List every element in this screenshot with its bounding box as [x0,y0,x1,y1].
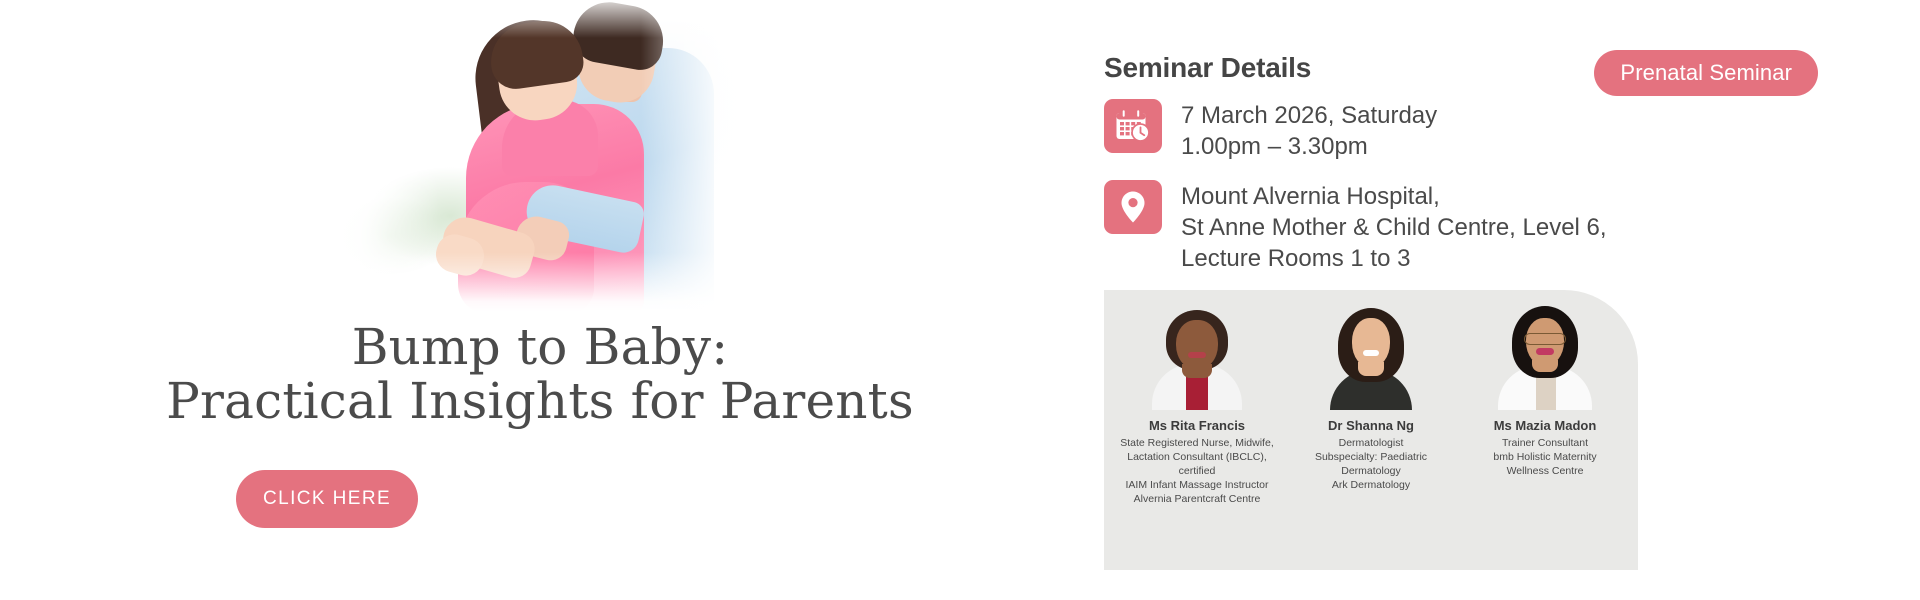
page-title: Bump to Baby: Practical Insights for Par… [140,320,940,428]
speaker-role: Trainer Consultant bmb Holistic Maternit… [1491,436,1598,478]
speaker-name: Ms Mazia Madon [1494,418,1597,434]
pregnant-couple-photo [330,0,750,311]
speaker-name: Dr Shanna Ng [1328,418,1414,434]
location-pin-icon [1104,180,1162,234]
status-badge: Prenatal Seminar [1594,50,1818,96]
speaker-role: State Registered Nurse, Midwife, Lactati… [1110,436,1284,506]
seminar-date-text: 7 March 2026, Saturday 1.00pm – 3.30pm [1181,99,1437,162]
seminar-date-row: 7 March 2026, Saturday 1.00pm – 3.30pm [1104,99,1437,162]
speakers-card: Ms Rita Francis State Registered Nurse, … [1104,290,1638,570]
seminar-details-heading: Seminar Details [1104,52,1311,84]
hero-panel: Bump to Baby: Practical Insights for Par… [0,0,1080,600]
speaker-photo-shanna-ng [1312,302,1430,410]
seminar-details-panel: Seminar Details Prenatal Seminar [1080,0,1920,600]
calendar-clock-icon [1104,99,1162,153]
photo-white-fade-overlay [330,0,750,311]
speaker-photo-mazia-madon [1486,302,1604,410]
speaker-role: Dermatologist Subspecialty: Paediatric D… [1313,436,1429,492]
speaker-name: Ms Rita Francis [1149,418,1245,434]
seminar-venue-row: Mount Alvernia Hospital, St Anne Mother … [1104,180,1607,274]
speaker-photo-rita-francis [1138,302,1256,410]
speaker-card: Ms Mazia Madon Trainer Consultant bmb Ho… [1458,290,1632,570]
click-here-button[interactable]: CLICK HERE [236,470,418,528]
speaker-card: Dr Shanna Ng Dermatologist Subspecialty:… [1284,290,1458,570]
seminar-venue-text: Mount Alvernia Hospital, St Anne Mother … [1181,180,1607,274]
speaker-card: Ms Rita Francis State Registered Nurse, … [1110,290,1284,570]
